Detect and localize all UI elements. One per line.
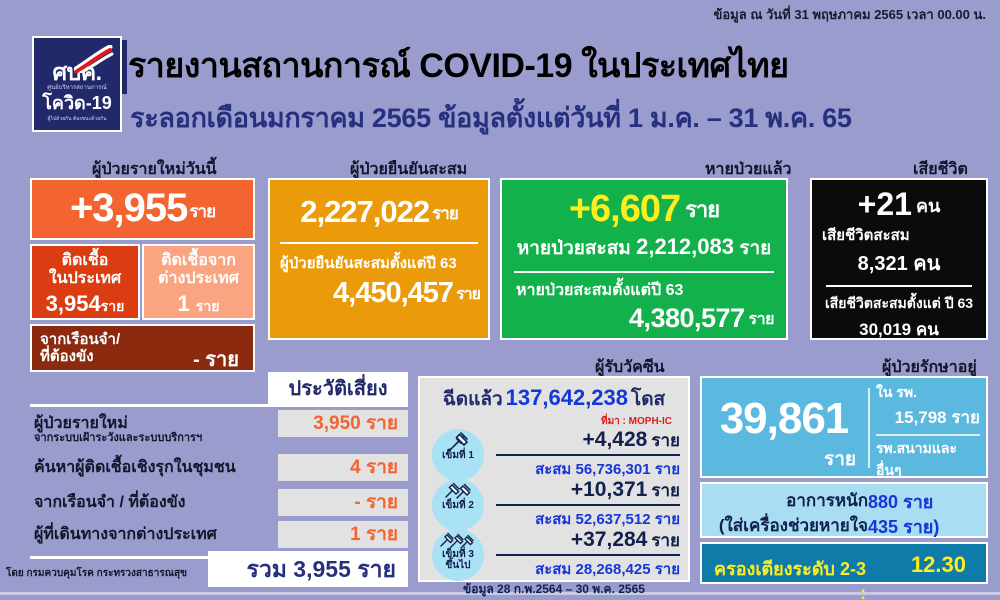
risk-row-3-label: ผู้ที่เดินทางจากต่างประเทศ <box>34 522 217 547</box>
cumulative-cases-panel: 2,227,022ราย ผู้ป่วยยืนยันสะสมตั้งแต่ปี … <box>268 178 490 340</box>
dose-3-daily: +37,284 <box>571 528 648 551</box>
risk-row: ผู้ที่เดินทางจากต่างประเทศ 1 ราย <box>30 522 408 552</box>
page-title: รายงานสถานการณ์ COVID-19 ในประเทศไทย <box>128 38 789 92</box>
deaths-cum-label: เสียชีวิตสะสม <box>822 223 986 247</box>
recovered-since-value: 4,380,577 <box>629 303 745 333</box>
prison-value: - ราย <box>193 343 239 375</box>
recovered-cum-label: หายป่วยสะสม <box>517 238 631 259</box>
recovered-cum-value: 2,212,083 <box>636 234 734 259</box>
cumulative-since-unit: ราย <box>456 286 480 303</box>
vaccine-injected-value: 137,642,238 <box>506 385 628 410</box>
risk-row-0-value: 3,950 ราย <box>278 410 408 437</box>
vaccine-dose-row: เข็มที่ 3 ขึ้นไป +37,284ราย สะสม 28,268,… <box>420 529 688 579</box>
dose-2-divider <box>496 504 680 506</box>
recovered-divider <box>514 271 774 273</box>
vaccine-panel: ฉีดแล้ว137,642,238โดส ที่มา : MOPH-IC เข… <box>418 376 690 582</box>
vaccine-footnote: ข้อมูล 28 ก.พ.2564 – 30 พ.ค. 2565 <box>420 580 688 599</box>
risk-row-3-value: 1 ราย <box>278 521 408 548</box>
dose-3-cumulative: สะสม 28,268,425 ราย <box>496 557 680 581</box>
cumulative-since-value: 4,450,457 <box>333 277 453 309</box>
recovered-since-unit: ราย <box>749 311 774 328</box>
domestic-label-line1: ติดเชื้อ <box>32 252 138 270</box>
domestic-unit: ราย <box>101 298 125 314</box>
risk-row-2-label: จากเรือนจำ / ที่ต้องขัง <box>34 490 185 515</box>
deaths-divider <box>826 285 972 287</box>
dose-2-label: เข็มที่ 2 <box>442 500 474 511</box>
treating-value: 39,861 <box>702 394 866 444</box>
prison-label-line2: ที่ต้องขัง <box>40 348 120 365</box>
cumulative-unit: ราย <box>432 204 458 223</box>
recovered-unit: ราย <box>685 197 719 222</box>
new-cases-unit: ราย <box>189 202 215 221</box>
bed-occupancy-label: ครองเตียงระดับ 2-3 : <box>710 554 866 600</box>
title-accent-bar <box>122 40 127 94</box>
dose-3-daily-unit: ราย <box>651 531 680 550</box>
dose-1-divider <box>496 454 680 456</box>
deaths-unit: คน <box>916 196 940 216</box>
prison-label-line1: จากเรือนจำ/ <box>40 331 120 348</box>
risk-total-rule <box>30 556 210 559</box>
recovered-value: +6,607 <box>569 188 680 230</box>
risk-top-rule <box>30 404 408 407</box>
dose-3-label-line1: เข็มที่ 3 <box>442 549 474 560</box>
field-hospital-label: รพ.สนามและอื่นๆ <box>876 438 980 482</box>
foreign-cases-panel: ติดเชื้อจาก ต่างประเทศ 1 ราย <box>142 244 255 320</box>
deaths-panel: +21คน เสียชีวิตสะสม 8,321 คน เสียชีวิตสะ… <box>810 178 988 340</box>
recovered-cum-unit: ราย <box>739 238 771 259</box>
vaccine-injected-unit: โดส <box>631 389 665 410</box>
infographic-root: ข้อมูล ณ วันที่ 31 พฤษภาคม 2565 เวลา 00.… <box>0 0 1000 600</box>
in-hospital-label: ใน รพ. <box>876 382 980 404</box>
dose-1-label: เข็มที่ 1 <box>442 450 474 461</box>
thai-flag-ribbon-icon <box>74 45 114 73</box>
risk-row-1-label: ค้นหาผู้ติดเชื้อเชิงรุกในชุมชน <box>34 455 236 480</box>
deaths-cum-value: 8,321 คน <box>812 247 986 279</box>
vaccine-dose-row: เข็มที่ 1 +4,428ราย สะสม 56,736,301 ราย <box>420 429 688 479</box>
dose-2-daily: +10,371 <box>571 478 648 501</box>
risk-total-value: รวม 3,955 ราย <box>208 551 408 587</box>
cumulative-value: 2,227,022 <box>300 194 429 229</box>
domestic-value: 3,954 <box>46 291 101 316</box>
dose-3-label-line2: ขึ้นไป <box>445 560 470 571</box>
credit-line: โดย กรมควบคุมโรค กระทรวงสาธารณสุข <box>6 566 187 581</box>
risk-row-2-value: - ราย <box>278 489 408 516</box>
ccsa-logo: ศบค. ศูนย์บริหารสถานการณ์ โควิด-19 สู้ไป… <box>32 36 122 132</box>
recovered-since-label: หายป่วยสะสมตั้งแต่ปี 63 <box>516 278 786 303</box>
logo-line-2: ศูนย์บริหารสถานการณ์ <box>47 85 107 92</box>
syringe-3-icon: เข็มที่ 3 ขึ้นไป <box>432 529 484 581</box>
cumulative-divider <box>280 242 478 244</box>
dose-1-daily-unit: ราย <box>651 431 680 450</box>
recovered-panel: +6,607ราย หายป่วยสะสม 2,212,083 ราย หายป… <box>500 178 788 340</box>
ventilator-value: 435 ราย) <box>868 512 978 541</box>
vaccine-dose-row: เข็มที่ 2 +10,371ราย สะสม 52,637,512 ราย <box>420 479 688 529</box>
foreign-unit: ราย <box>196 298 220 314</box>
treating-panel: 39,861 ราย ใน รพ. 15,798 ราย รพ.สนามและอ… <box>700 376 988 478</box>
foreign-label-line2: ต่างประเทศ <box>144 270 253 288</box>
deaths-since-label: เสียชีวิตสะสมตั้งแต่ ปี 63 <box>812 293 986 315</box>
deaths-since-value: 30,019 คน <box>812 316 986 343</box>
severe-cases-panel: อาการหนัก 880 ราย (ใส่เครื่องช่วยหายใจ 4… <box>700 482 988 538</box>
new-cases-value: +3,955 <box>70 186 187 230</box>
risk-history-title: ประวัติเสี่ยง <box>268 372 408 404</box>
treating-unit: ราย <box>702 444 856 474</box>
treating-divider <box>876 434 980 436</box>
syringe-1-icon: เข็มที่ 1 <box>432 429 484 481</box>
bed-occupancy-value: 12.30 <box>911 552 966 578</box>
risk-row: ผู้ป่วยรายใหม่ จากระบบเฝ้าระวังและระบบบร… <box>30 411 408 451</box>
new-cases-panel: +3,955ราย <box>30 178 255 240</box>
deaths-value: +21 <box>858 186 912 222</box>
risk-row-1-value: 4 ราย <box>278 454 408 481</box>
bed-occupancy-panel: ครองเตียงระดับ 2-3 : 12.30 <box>700 542 988 584</box>
domestic-label-line2: ในประเทศ <box>32 270 138 288</box>
dose-3-divider <box>496 554 680 556</box>
risk-row-0-sublabel: จากระบบเฝ้าระวังและระบบบริการฯ <box>34 428 202 446</box>
domestic-cases-panel: ติดเชื้อ ในประเทศ 3,954ราย <box>30 244 140 320</box>
treating-vertical-divider <box>868 388 870 468</box>
foreign-value: 1 <box>178 291 190 316</box>
syringe-2-icon: เข็มที่ 2 <box>432 479 484 531</box>
in-hospital-value: 15,798 ราย <box>876 404 980 431</box>
dose-2-daily-unit: ราย <box>651 481 680 500</box>
dose-1-daily: +4,428 <box>583 428 648 451</box>
as-of-timestamp: ข้อมูล ณ วันที่ 31 พฤษภาคม 2565 เวลา 00.… <box>713 4 986 25</box>
risk-row: ค้นหาผู้ติดเชื้อเชิงรุกในชุมชน 4 ราย <box>30 455 408 485</box>
risk-row: จากเรือนจำ / ที่ต้องขัง - ราย <box>30 490 408 520</box>
prison-cases-panel: จากเรือนจำ/ ที่ต้องขัง - ราย <box>30 324 255 372</box>
logo-line-4: สู้ไปด้วยกัน ต้องชนะด้วยกัน <box>47 115 106 123</box>
vaccine-injected-label: ฉีดแล้ว <box>443 389 503 410</box>
logo-line-3: โควิด-19 <box>42 94 112 114</box>
cumulative-since-label: ผู้ป่วยยืนยันสะสมตั้งแต่ปี 63 <box>280 251 488 275</box>
foreign-label-line1: ติดเชื้อจาก <box>144 252 253 270</box>
severe-label: อาการหนัก <box>710 487 868 514</box>
ventilator-label: (ใส่เครื่องช่วยหายใจ <box>710 512 868 539</box>
page-subtitle: ระลอกเดือนมกราคม 2565 ข้อมูลตั้งแต่วันที… <box>130 96 852 139</box>
